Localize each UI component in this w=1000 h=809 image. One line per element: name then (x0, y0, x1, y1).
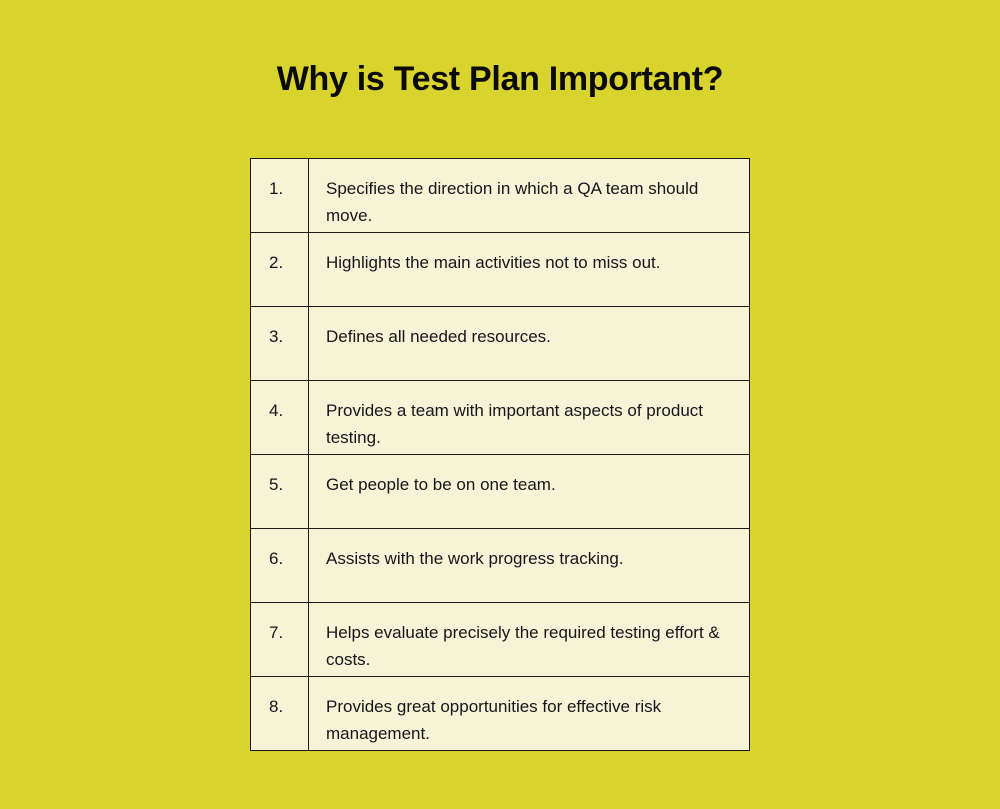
row-number-cell: 4. (251, 381, 309, 455)
reasons-table-body: 1. Specifies the direction in which a QA… (251, 159, 750, 751)
table-row: 3. Defines all needed resources. (251, 307, 750, 381)
row-text-cell: Highlights the main activities not to mi… (309, 233, 750, 307)
table-row: 6. Assists with the work progress tracki… (251, 529, 750, 603)
slide-canvas: Why is Test Plan Important? 1. Specifies… (0, 0, 1000, 809)
row-number-cell: 8. (251, 677, 309, 751)
row-number-cell: 7. (251, 603, 309, 677)
table-row: 1. Specifies the direction in which a QA… (251, 159, 750, 233)
row-text-cell: Get people to be on one team. (309, 455, 750, 529)
table-row: 7. Helps evaluate precisely the required… (251, 603, 750, 677)
table-row: 8. Provides great opportunities for effe… (251, 677, 750, 751)
row-number-cell: 2. (251, 233, 309, 307)
row-text-cell: Specifies the direction in which a QA te… (309, 159, 750, 233)
reasons-table: 1. Specifies the direction in which a QA… (250, 158, 750, 751)
row-number-cell: 5. (251, 455, 309, 529)
row-text-cell: Provides great opportunities for effecti… (309, 677, 750, 751)
row-number-cell: 1. (251, 159, 309, 233)
table-row: 2. Highlights the main activities not to… (251, 233, 750, 307)
table-row: 5. Get people to be on one team. (251, 455, 750, 529)
row-number-cell: 3. (251, 307, 309, 381)
row-text-cell: Provides a team with important aspects o… (309, 381, 750, 455)
page-title: Why is Test Plan Important? (0, 58, 1000, 100)
row-text-cell: Helps evaluate precisely the required te… (309, 603, 750, 677)
row-text-cell: Defines all needed resources. (309, 307, 750, 381)
row-text-cell: Assists with the work progress tracking. (309, 529, 750, 603)
row-number-cell: 6. (251, 529, 309, 603)
table-row: 4. Provides a team with important aspect… (251, 381, 750, 455)
